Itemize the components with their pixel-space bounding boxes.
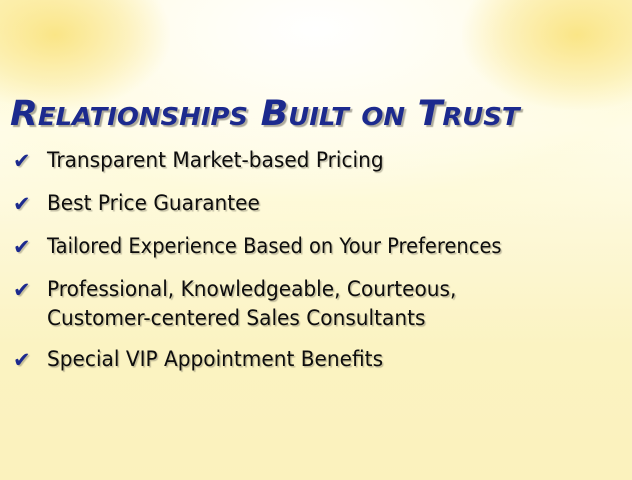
list-item-label: Tailored Experience Based on Your Prefer… <box>47 232 576 261</box>
bullet-list: ✔ Transparent Market-based Pricing ✔ Bes… <box>0 146 632 388</box>
list-item: ✔ Professional, Knowledgeable, Courteous… <box>0 275 632 333</box>
check-mark-icon: ✔ <box>13 232 47 262</box>
list-item-label: Transparent Market-based Pricing <box>47 146 594 175</box>
check-mark-icon: ✔ <box>13 189 47 219</box>
slide-title: Relationships Built on Trust <box>10 94 632 134</box>
list-item: ✔ Special VIP Appointment Benefits <box>0 345 632 375</box>
list-item: ✔ Transparent Market-based Pricing <box>0 146 632 176</box>
presentation-slide: Relationships Built on Trust ✔ Transpare… <box>0 0 632 480</box>
list-item: ✔ Tailored Experience Based on Your Pref… <box>0 232 632 262</box>
check-mark-icon: ✔ <box>13 146 47 176</box>
check-mark-icon: ✔ <box>13 275 47 305</box>
check-mark-icon: ✔ <box>13 345 47 375</box>
list-item-label: Professional, Knowledgeable, Courteous, … <box>47 275 594 333</box>
list-item: ✔ Best Price Guarantee <box>0 189 632 219</box>
list-item-label: Best Price Guarantee <box>47 189 594 218</box>
list-item-label: Special VIP Appointment Benefits <box>47 345 594 374</box>
